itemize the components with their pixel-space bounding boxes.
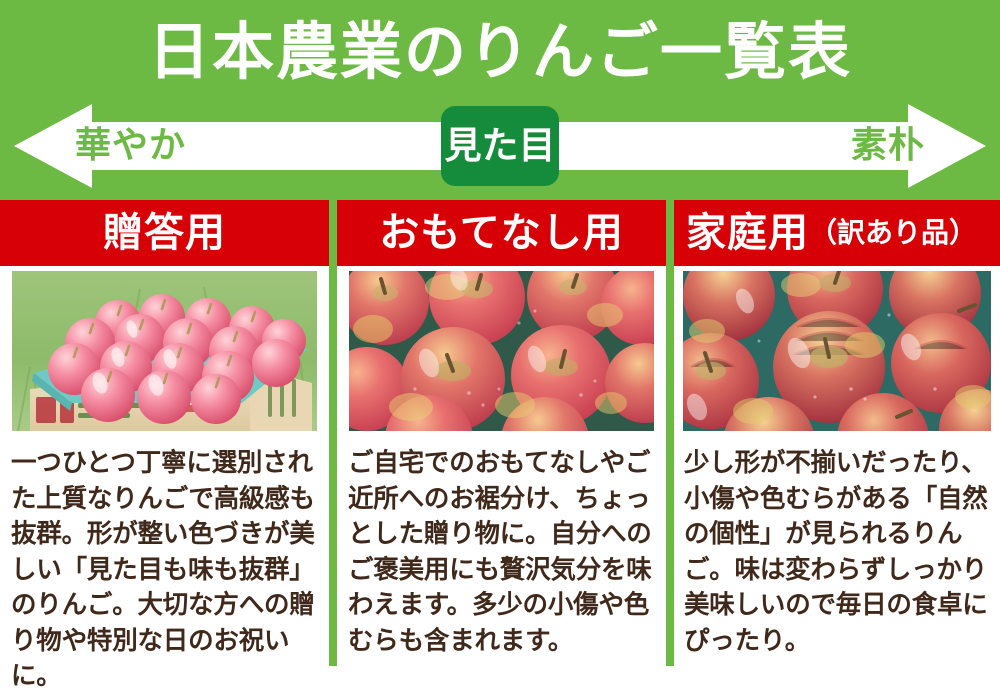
column-heading: 贈答用 bbox=[0, 200, 329, 266]
apples-in-gift-tray-photo bbox=[12, 271, 317, 431]
header-banner: 日本農業のりんご一覧表 華やか 素朴 見た目 bbox=[0, 0, 1000, 200]
column-heading: おもてなし用 bbox=[337, 200, 666, 266]
apples-assorted-photo bbox=[683, 271, 991, 431]
axis-label-right: 素朴 bbox=[851, 122, 925, 170]
column-description: 少し形が不揃いだったり、小傷や色むらがある「自然の個性」が見られるりんご。味は変… bbox=[684, 446, 998, 659]
apples-closeup-photo bbox=[349, 271, 654, 431]
column-heading: 家庭用（訳あり品） bbox=[674, 200, 1000, 266]
column-gift-use: 贈答用 bbox=[0, 200, 329, 666]
column-divider bbox=[329, 200, 337, 666]
column-heading-sub: （訳あり品） bbox=[809, 200, 977, 266]
axis-label-left: 華やか bbox=[75, 122, 186, 170]
column-description: 一つひとつ丁寧に選別された上質なりんごで高級感も抜群。形が整い色づきが美しい「見… bbox=[11, 446, 323, 695]
category-columns: 贈答用 bbox=[0, 200, 1000, 666]
column-hospitality-use: おもてなし用 bbox=[337, 200, 666, 666]
apple-comparison-infographic: 日本農業のりんご一覧表 華やか 素朴 見た目 贈答用 bbox=[0, 0, 1000, 666]
column-home-use: 家庭用（訳あり品） bbox=[674, 200, 1000, 666]
axis-center-badge: 見た目 bbox=[441, 106, 559, 186]
column-divider bbox=[666, 200, 674, 666]
column-heading-main: 家庭用 bbox=[686, 200, 809, 266]
page-title: 日本農業のりんご一覧表 bbox=[0, 12, 1000, 92]
column-heading-main: 贈答用 bbox=[103, 200, 226, 266]
column-description: ご自宅でのおもてなしやご近所へのお裾分け、ちょっとした贈り物に。自分へのご褒美用… bbox=[348, 446, 660, 659]
column-heading-main: おもてなし用 bbox=[379, 200, 623, 266]
appearance-axis-bar: 華やか 素朴 見た目 bbox=[0, 104, 1000, 188]
